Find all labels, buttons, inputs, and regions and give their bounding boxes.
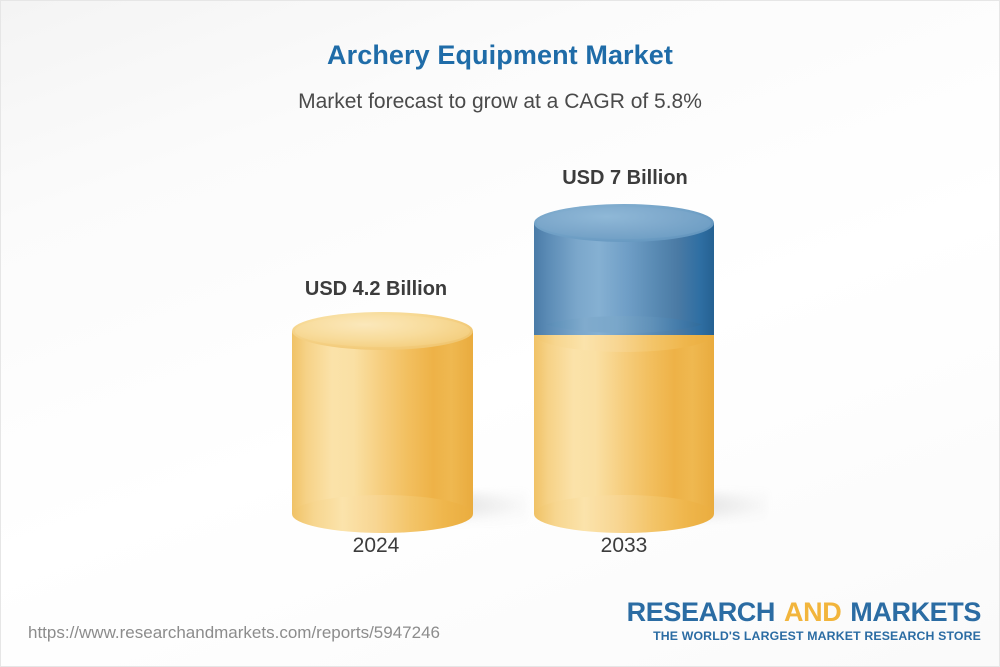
bar-top-cap (292, 312, 473, 350)
logo-word-research: RESEARCH (627, 597, 775, 627)
category-label-2024: 2024 (276, 534, 476, 558)
bar-body (292, 331, 473, 514)
chart-canvas: Archery Equipment Market Market forecast… (0, 0, 1000, 667)
plot-area: USD 4.2 Billion 2024 USD 7 Billion (1, 1, 1000, 667)
report-url[interactable]: https://www.researchandmarkets.com/repor… (28, 623, 440, 643)
value-label-2033: USD 7 Billion (525, 167, 725, 190)
bar-top-cap (534, 204, 714, 242)
research-and-markets-logo[interactable]: RESEARCHANDMARKETS THE WORLD'S LARGEST M… (627, 599, 981, 643)
bar-2024[interactable] (292, 312, 473, 514)
bar-bottom-edge (534, 495, 714, 533)
bar-body-lower (534, 334, 714, 514)
logo-wordmark: RESEARCHANDMARKETS (627, 599, 981, 626)
value-label-2024: USD 4.2 Billion (276, 278, 476, 301)
bar-2033[interactable] (534, 204, 714, 514)
category-label-2033: 2033 (524, 534, 724, 558)
bar-top-cap-highlight (295, 315, 470, 347)
logo-tagline: THE WORLD'S LARGEST MARKET RESEARCH STOR… (627, 629, 981, 643)
logo-word-and: AND (784, 597, 841, 627)
bar-bottom-edge (292, 495, 473, 533)
logo-word-markets: MARKETS (850, 597, 981, 627)
bar-top-cap-highlight (537, 207, 711, 239)
